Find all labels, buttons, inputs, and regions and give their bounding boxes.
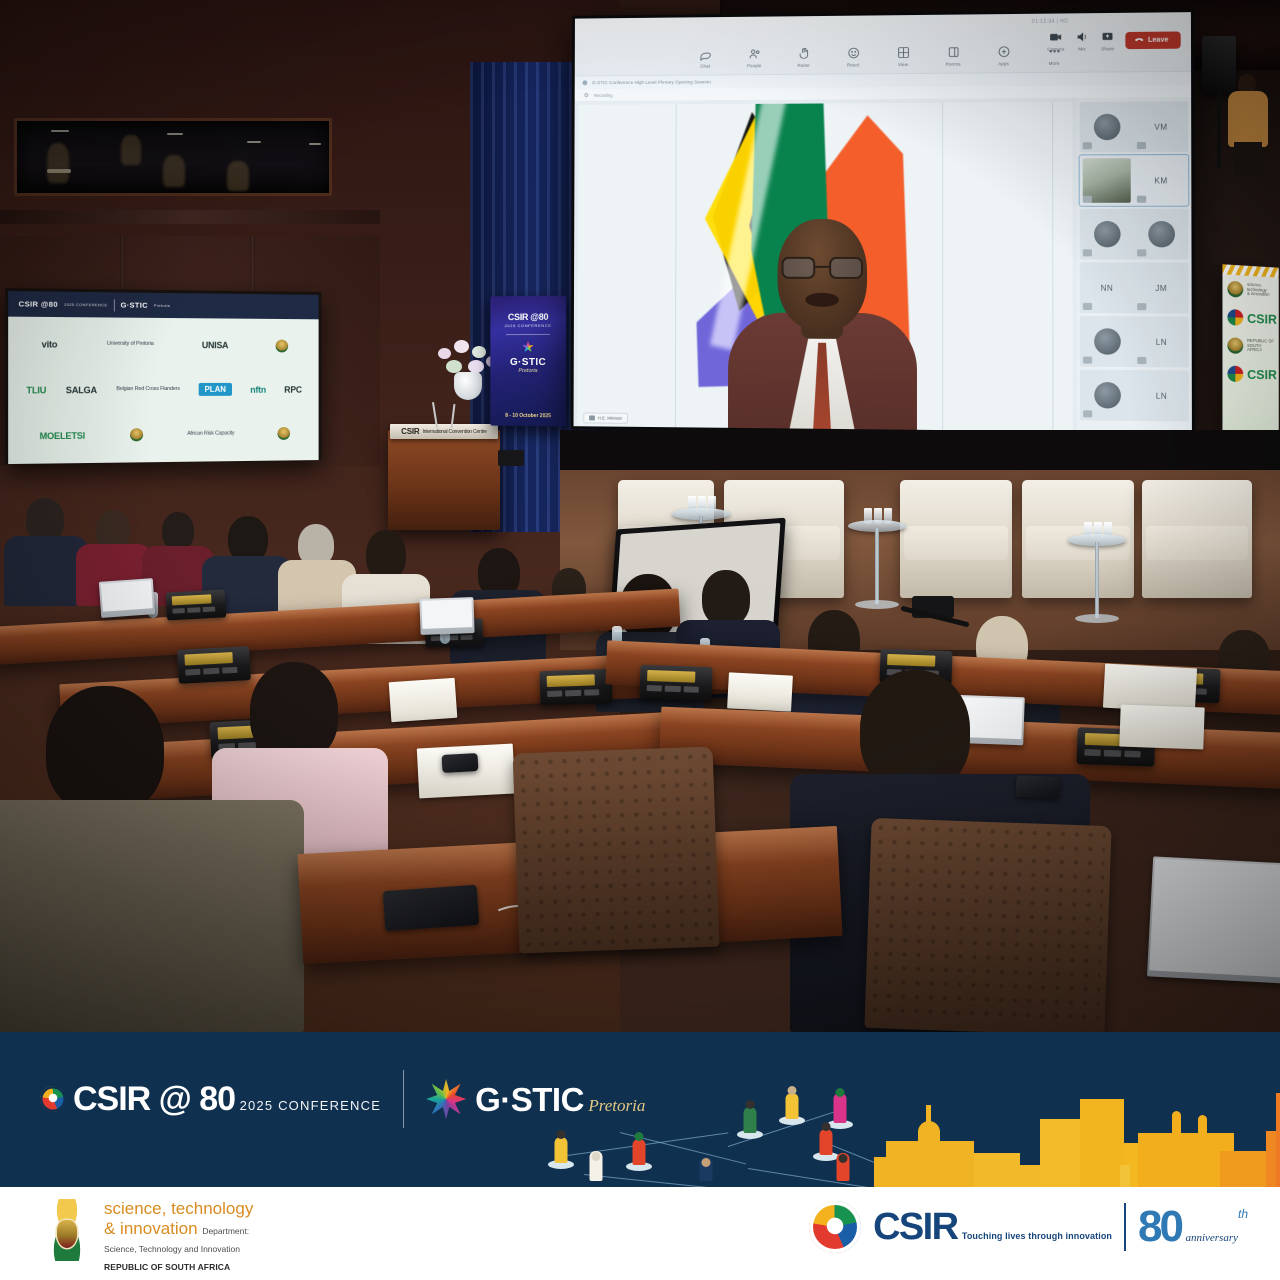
participant-tile[interactable]: VM (1080, 101, 1189, 152)
university-crest-icon (275, 339, 287, 352)
banner-csir80: CSIR @80 (490, 312, 566, 323)
sponsor-row: TLIU SALGA Belgian Red Cross Flanders PL… (16, 368, 311, 412)
participant-initials: LN (1156, 337, 1167, 346)
projection-screen-video-call: 01:12:34 | HD Chat People (571, 9, 1195, 436)
participant-initials: LN (1156, 391, 1167, 400)
participant-tile[interactable]: LN (1080, 370, 1189, 422)
mic-label: Mic (1078, 46, 1086, 51)
video-call-right-controls: Camera Mic Share (1047, 28, 1181, 51)
react-icon (846, 45, 861, 60)
people-icon (747, 46, 762, 61)
mobile-phone (383, 885, 480, 931)
participant-tile[interactable]: LN (1080, 316, 1189, 367)
avatar (1148, 221, 1175, 247)
toolbar-rooms-label: Rooms (946, 62, 961, 67)
participant-tile[interactable]: NN JM (1080, 262, 1189, 313)
sponsor-logo-screen: CSIR @80 2025 CONFERENCE G·STIC Pretoria… (5, 288, 321, 464)
banner-conference: 2025 CONFERENCE (490, 323, 566, 328)
csir-anniversary-logo: CSIR Touching lives through innovation 8… (809, 1201, 1238, 1253)
camera-button[interactable]: Camera (1047, 30, 1064, 52)
audience-seating (0, 470, 1280, 1032)
participant-initials: KM (1154, 176, 1167, 185)
toolbar-apps-label: Apps (998, 61, 1009, 66)
audience-head (366, 530, 406, 580)
notepad (389, 678, 458, 723)
conference-chair (513, 747, 720, 954)
dsi-title-line2: & innovation (104, 1219, 198, 1238)
toolbar-view-button[interactable]: View (886, 45, 920, 67)
people-figure (546, 1125, 576, 1169)
mic-button[interactable]: Mic (1075, 29, 1090, 51)
avatar (1094, 328, 1121, 355)
mic-muted-icon (1137, 142, 1146, 149)
mic-small-icon (589, 415, 595, 420)
sponsor-header-csir: CSIR @80 (19, 299, 58, 309)
toolbar-raise-label: Raise (798, 63, 810, 68)
delegate-microphone-unit (166, 590, 226, 621)
laptop-front (1147, 856, 1280, 983)
laptop (419, 597, 474, 635)
speaker-name-label: H.E. Minister (598, 416, 622, 421)
dsi-dept-label: Department: (202, 1226, 249, 1236)
mic-muted-icon (1137, 357, 1146, 364)
logo-plan: PLAN (199, 383, 232, 396)
logo-nftn: nftn (250, 385, 266, 395)
toolbar-people-label: People (747, 63, 762, 68)
people-figure (624, 1127, 654, 1171)
avatar (1094, 221, 1121, 247)
logo-rpc: RPC (284, 385, 302, 395)
mobile-phone (1015, 775, 1060, 799)
mic-muted-icon (1083, 142, 1092, 149)
dsi-crest-icon (130, 428, 143, 441)
csir-logo-icon (40, 1086, 66, 1112)
podium-nameplate: CSIR International Convention Centre (390, 424, 498, 439)
leave-button[interactable]: Leave (1126, 31, 1181, 49)
speaker-name-badge: H.E. Minister (583, 412, 628, 423)
sponsor-logo-grid: vito University of Pretoria UNISA TLIU S… (8, 317, 318, 464)
dsi-country: REPUBLIC OF SOUTH AFRICA (104, 1262, 230, 1272)
dhet-crest-icon (277, 427, 289, 440)
sponsor-row: MOELETSI African Risk Capacity (16, 413, 311, 458)
toolbar-more-label: More (1049, 61, 1060, 66)
sponsor-header-pretoria: Pretoria (154, 303, 170, 308)
logo-african-risk-capacity: African Risk Capacity (187, 431, 234, 437)
mic-muted-icon (1083, 410, 1092, 417)
sponsor-header-gstic: G·STIC (121, 300, 148, 309)
hangup-icon (1135, 35, 1144, 44)
logo-tliu: TLIU (26, 385, 46, 395)
podium-plate-csir: CSIR (401, 427, 419, 436)
csir-logo-icon (1227, 309, 1243, 326)
logo-vito: vito (42, 340, 58, 350)
notepad (1119, 705, 1204, 750)
participant-rail[interactable]: VM KM (1077, 97, 1192, 436)
stage-rollup-banner: CSIR @80 2025 CONFERENCE G·STIC Pretoria… (490, 296, 566, 427)
podium-plate-venue: International Convention Centre (422, 429, 486, 435)
toolbar-react-button[interactable]: React (836, 45, 870, 67)
sponsor-screen-header: CSIR @80 2025 CONFERENCE G·STIC Pretoria (8, 291, 318, 319)
banner-dates: 8 - 10 October 2025 (490, 413, 566, 420)
grid-view-icon (896, 45, 911, 60)
anniversary-number: 80 (1138, 1202, 1181, 1251)
video-call-toolbar: 01:12:34 | HD Chat People (575, 12, 1191, 75)
band-csir-sub: 2025 CONFERENCE (240, 1098, 382, 1113)
toolbar-people-button[interactable]: People (738, 46, 772, 68)
sponsor-header-conference: 2025 CONFERENCE (64, 302, 107, 308)
meeting-meta: 01:12:34 | HD (1032, 18, 1068, 24)
speaker-stand (1217, 94, 1221, 168)
conference-photo-card: CSIR @80 2025 CONFERENCE G·STIC Pretoria… (0, 0, 1280, 1280)
mic-muted-icon (1083, 357, 1092, 364)
toolbar-rooms-button[interactable]: Rooms (936, 44, 970, 66)
foreground-person-head (250, 662, 338, 762)
participant-tile[interactable]: KM (1080, 155, 1189, 206)
people-figure (736, 1097, 764, 1139)
mic-muted-icon (1083, 249, 1092, 256)
meeting-sub-label: Recording (594, 92, 613, 97)
camera-label: Camera (1047, 47, 1064, 52)
anniversary-label: anniversary (1185, 1232, 1238, 1244)
participant-initials: VM (1154, 122, 1167, 131)
video-call-body: H.E. Minister VM KM (574, 97, 1192, 436)
toolbar-raise-button[interactable]: Raise (787, 46, 821, 68)
camera-icon (1048, 30, 1063, 45)
sa-coat-of-arms-icon (1227, 337, 1243, 353)
share-label: Share (1101, 46, 1114, 51)
delegate-microphone-unit (177, 646, 251, 684)
logo-moeletsi: MOELETSI (39, 430, 85, 441)
mobile-phone (442, 753, 479, 773)
logo-unisa: UNISA (202, 341, 228, 351)
audience-head (162, 512, 194, 550)
branding-band: CSIR @ 80 2025 CONFERENCE G·STIC Pretori… (0, 1032, 1280, 1187)
gstic-burst-icon (522, 341, 534, 353)
right-banner-country: REPUBLIC OF SOUTH AFRICA (1247, 339, 1274, 354)
toolbar-react-label: React (847, 62, 859, 67)
avatar (1093, 114, 1120, 140)
remote-speaker-person (728, 181, 917, 432)
city-skyline-graphic (520, 1087, 1280, 1187)
conference-chair (864, 818, 1111, 1032)
logo-belgian-red-cross: Belgian Red Cross Flanders (116, 387, 180, 393)
active-speaker-tile[interactable]: H.E. Minister (577, 102, 1072, 434)
toolbar-chat-label: Chat (700, 64, 710, 69)
right-banner-brand: CSIR (1247, 366, 1277, 381)
toolbar-view-label: View (898, 62, 908, 67)
sa-coat-of-arms-icon (40, 1199, 94, 1261)
mic-muted-icon (1137, 303, 1146, 310)
mic-muted-icon (1137, 249, 1146, 256)
audience-head (702, 570, 750, 626)
people-figure (830, 1153, 856, 1187)
raise-hand-icon (796, 46, 811, 61)
meeting-title: G-STIC Conference High Level Plenary Ope… (592, 79, 711, 85)
share-screen-icon (1100, 29, 1115, 44)
podium-laptop (498, 450, 524, 466)
logo-up: University of Pretoria (107, 342, 154, 348)
foreground-person-body (0, 800, 304, 1032)
laptop (99, 578, 155, 618)
chat-icon (698, 47, 713, 62)
toolbar-chat-button[interactable]: Chat (689, 47, 722, 69)
share-button[interactable]: Share (1100, 29, 1115, 51)
avatar (1094, 382, 1121, 409)
apps-icon (996, 44, 1011, 59)
toolbar-apps-button[interactable]: Apps (986, 44, 1020, 66)
logo-salga: SALGA (66, 385, 97, 395)
csir-logo-icon (809, 1201, 861, 1253)
band-csir-title: CSIR @ 80 (73, 1080, 235, 1118)
person-standing (1226, 74, 1270, 174)
meeting-status-dot (582, 80, 587, 85)
glasses-icon (782, 257, 863, 279)
people-figure (694, 1157, 718, 1187)
logo-divider (1124, 1203, 1126, 1251)
people-figure (584, 1151, 608, 1187)
anniversary-ordinal: th (1238, 1207, 1248, 1221)
microphone-icon (1075, 29, 1090, 44)
people-figure (778, 1083, 806, 1125)
banner-pretoria: Pretoria (490, 368, 566, 374)
delegate-microphone-unit (539, 669, 612, 705)
csir-wordmark: CSIR (873, 1206, 957, 1248)
right-banner-line2: & innovation (1247, 291, 1269, 297)
sponsor-row: vito University of Pretoria UNISA (16, 323, 311, 367)
footer-logos: science, technology & innovation Departm… (0, 1187, 1280, 1280)
logo-divider (403, 1070, 404, 1128)
gstic-burst-icon (426, 1079, 466, 1119)
csir-tagline: Touching lives through innovation (962, 1231, 1112, 1241)
dsi-dept-name: Science, Technology and Innovation (104, 1244, 240, 1254)
csir-logo-icon (1227, 366, 1243, 382)
breakout-rooms-icon (946, 45, 961, 60)
record-indicator-icon (584, 93, 588, 97)
interpreter-booth (14, 118, 332, 196)
sa-coat-of-arms-icon (1227, 281, 1243, 298)
csir80-logo: CSIR @ 80 2025 CONFERENCE (40, 1082, 381, 1116)
mic-muted-icon (1083, 196, 1092, 203)
mic-muted-icon (1083, 303, 1092, 310)
participant-initials: NN (1101, 283, 1114, 292)
dsi-title-line1: science, technology (104, 1199, 253, 1218)
leave-label: Leave (1148, 36, 1168, 43)
participant-initials: JM (1155, 283, 1167, 292)
participant-tile[interactable] (1080, 209, 1189, 260)
banner-gstic: G·STIC (490, 357, 566, 368)
foreground-person-head (46, 686, 164, 814)
delegate-microphone-unit (639, 665, 712, 701)
conference-hall-photo: CSIR @80 2025 CONFERENCE G·STIC Pretoria… (0, 0, 1280, 1032)
right-banner-brand: CSIR (1247, 310, 1277, 326)
notepad (727, 672, 793, 711)
mic-muted-icon (1137, 196, 1146, 203)
dsi-logo: science, technology & innovation Departm… (40, 1199, 253, 1275)
